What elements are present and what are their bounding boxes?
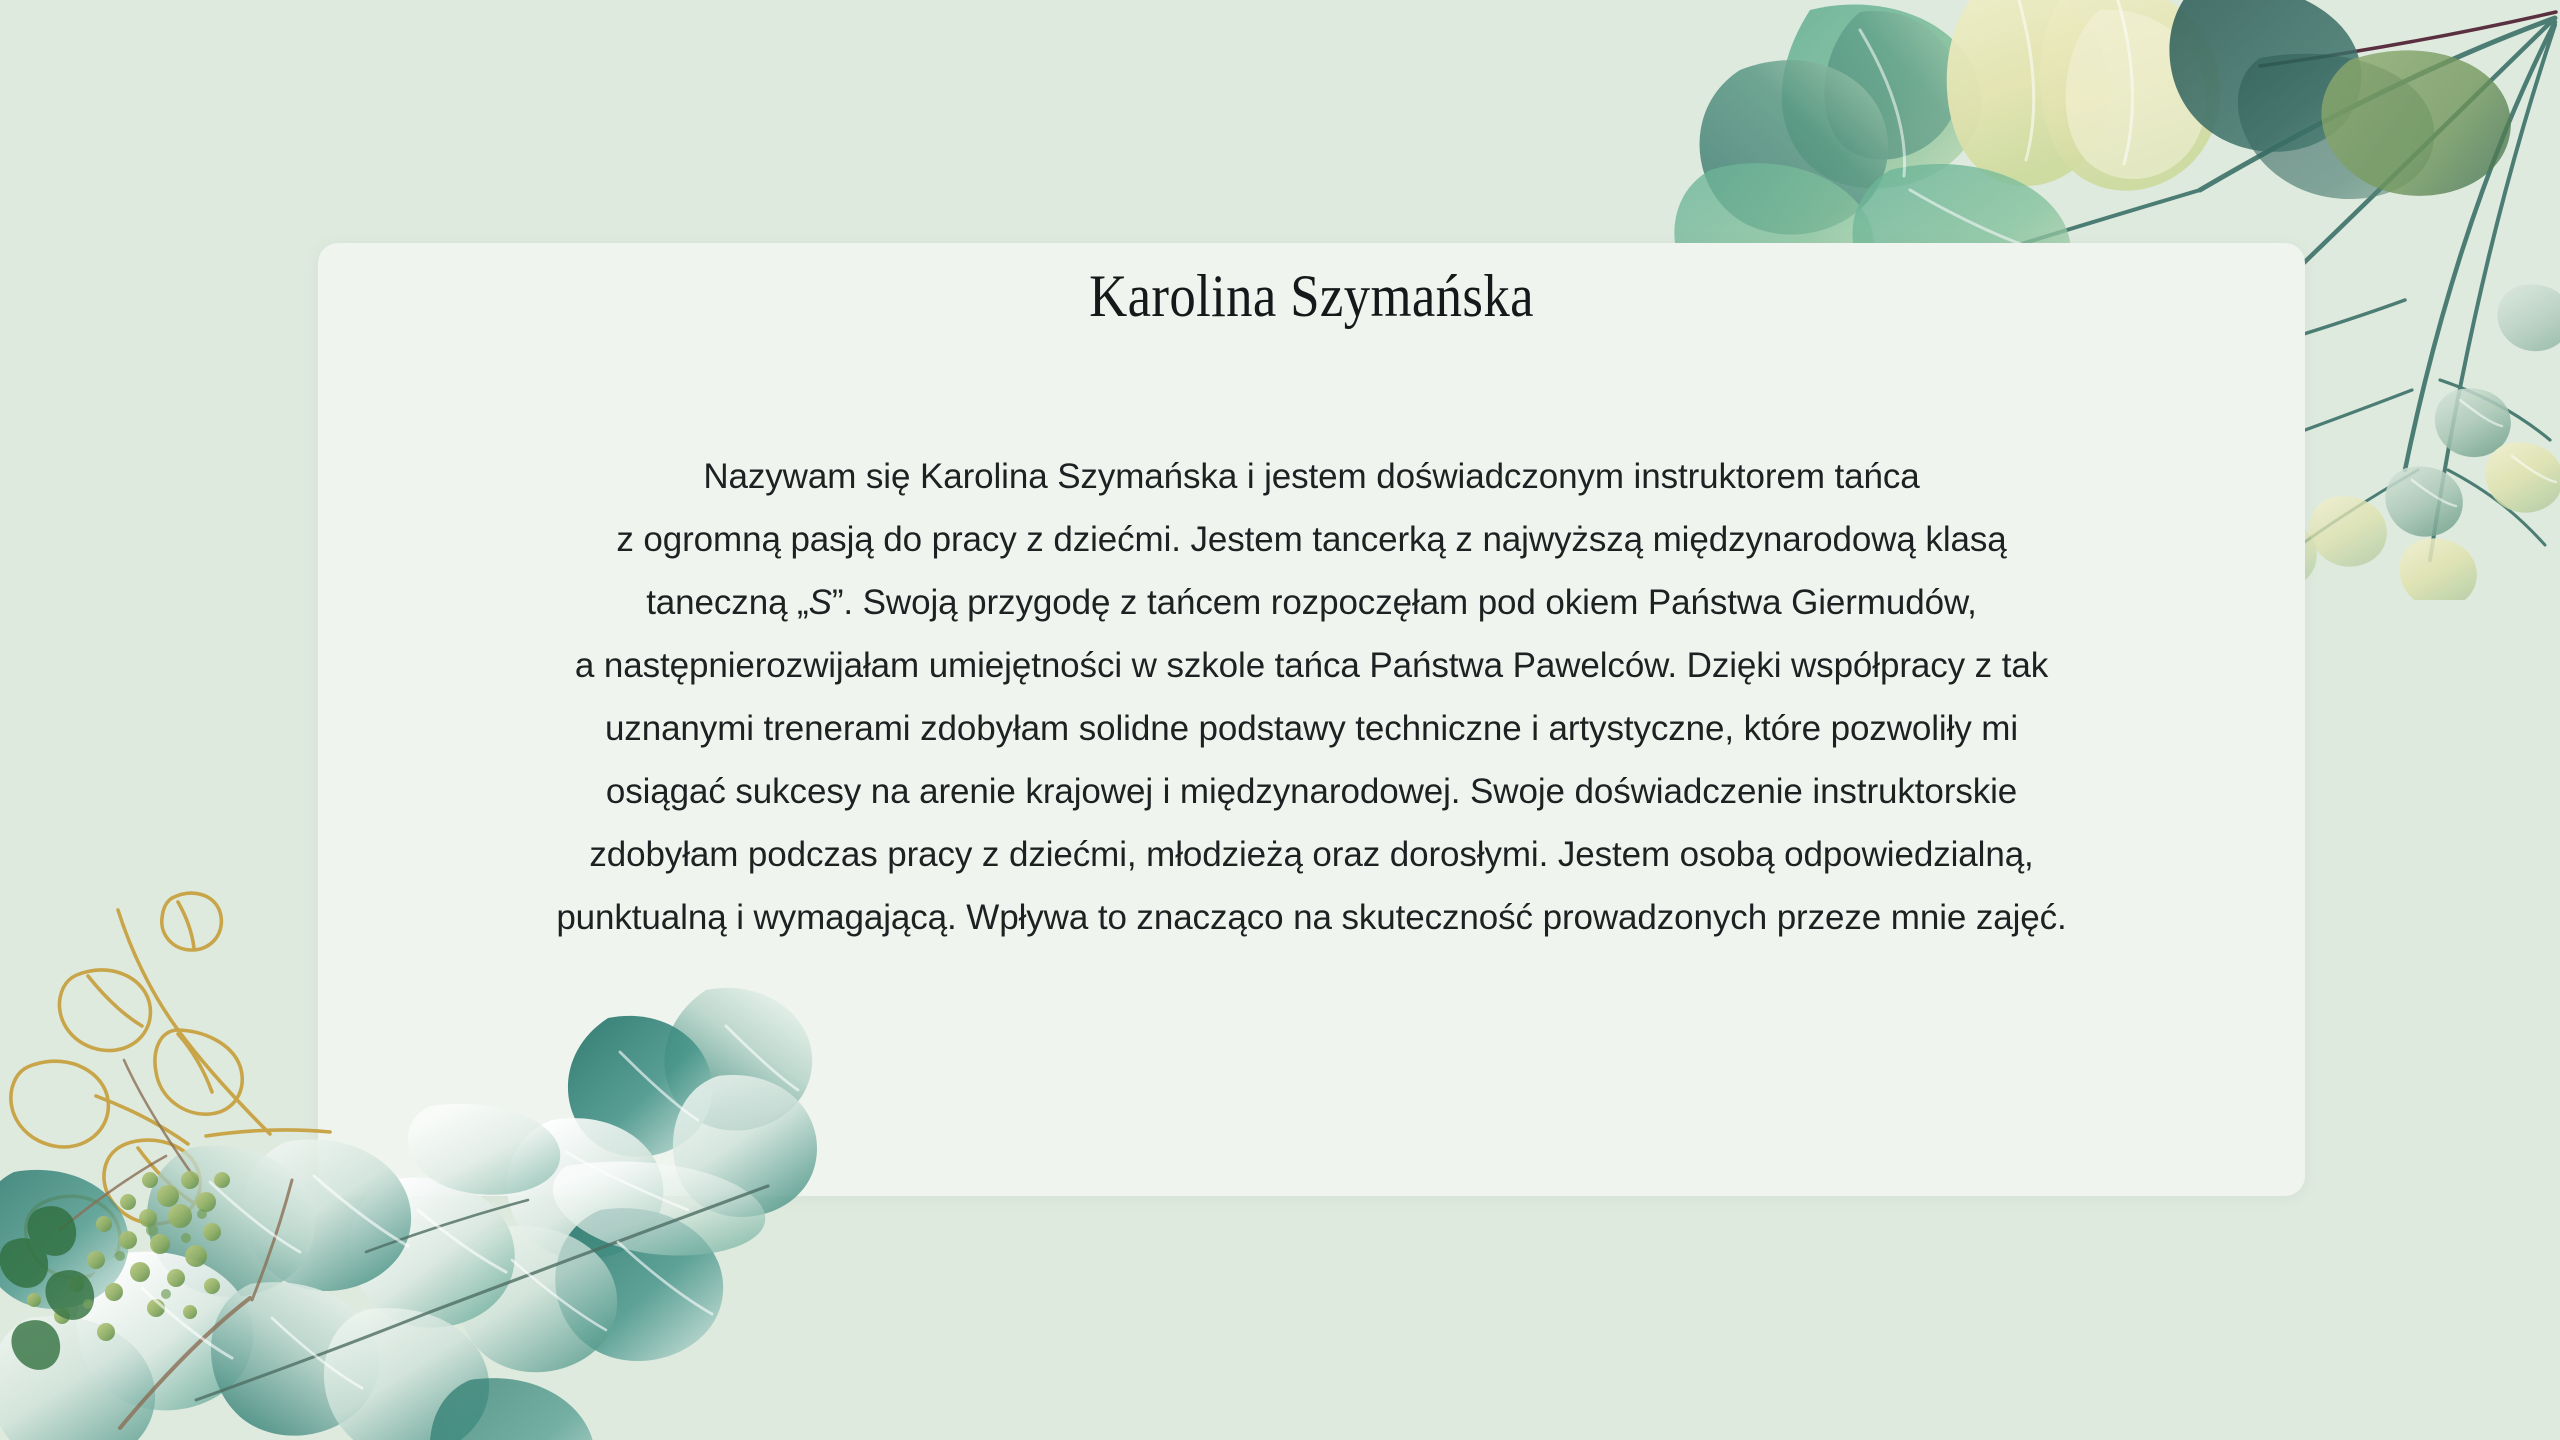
body-line-5: uznanymi trenerami zdobyłam solidne pods… bbox=[378, 697, 2245, 760]
body-line-3-suffix: ”. Swoją przygodę z tańcem rozpoczęłam p… bbox=[832, 583, 1977, 622]
biography-text: Nazywam się Karolina Szymańska i jestem … bbox=[378, 445, 2245, 949]
body-line-8: punktualną i wymagającą. Wpływa to znacz… bbox=[378, 886, 2245, 949]
body-line-3-prefix: taneczną „ bbox=[646, 583, 808, 622]
body-line-7: zdobyłam podczas pracy z dziećmi, młodzi… bbox=[378, 823, 2245, 886]
body-line-3: taneczną „S”. Swoją przygodę z tańcem ro… bbox=[378, 571, 2245, 634]
content-card: Karolina Szymańska Nazywam się Karolina … bbox=[318, 243, 2305, 1196]
gold-line-art-sprig bbox=[11, 893, 330, 1278]
dance-class-letter: S bbox=[809, 583, 832, 622]
body-line-4: a następnierozwijałam umiejętności w szk… bbox=[378, 634, 2245, 697]
body-line-2: z ogromną pasją do pracy z dziećmi. Jest… bbox=[378, 508, 2245, 571]
page-title: Karolina Szymańska bbox=[437, 262, 2186, 331]
slide-canvas: Karolina Szymańska Nazywam się Karolina … bbox=[0, 0, 2560, 1440]
dark-stem-accent bbox=[2260, 12, 2556, 66]
body-line-6: osiągać sukcesy na arenie krajowej i mię… bbox=[378, 760, 2245, 823]
berry-foliage-cluster bbox=[0, 1171, 230, 1370]
body-line-1: Nazywam się Karolina Szymańska i jestem … bbox=[378, 445, 2245, 508]
